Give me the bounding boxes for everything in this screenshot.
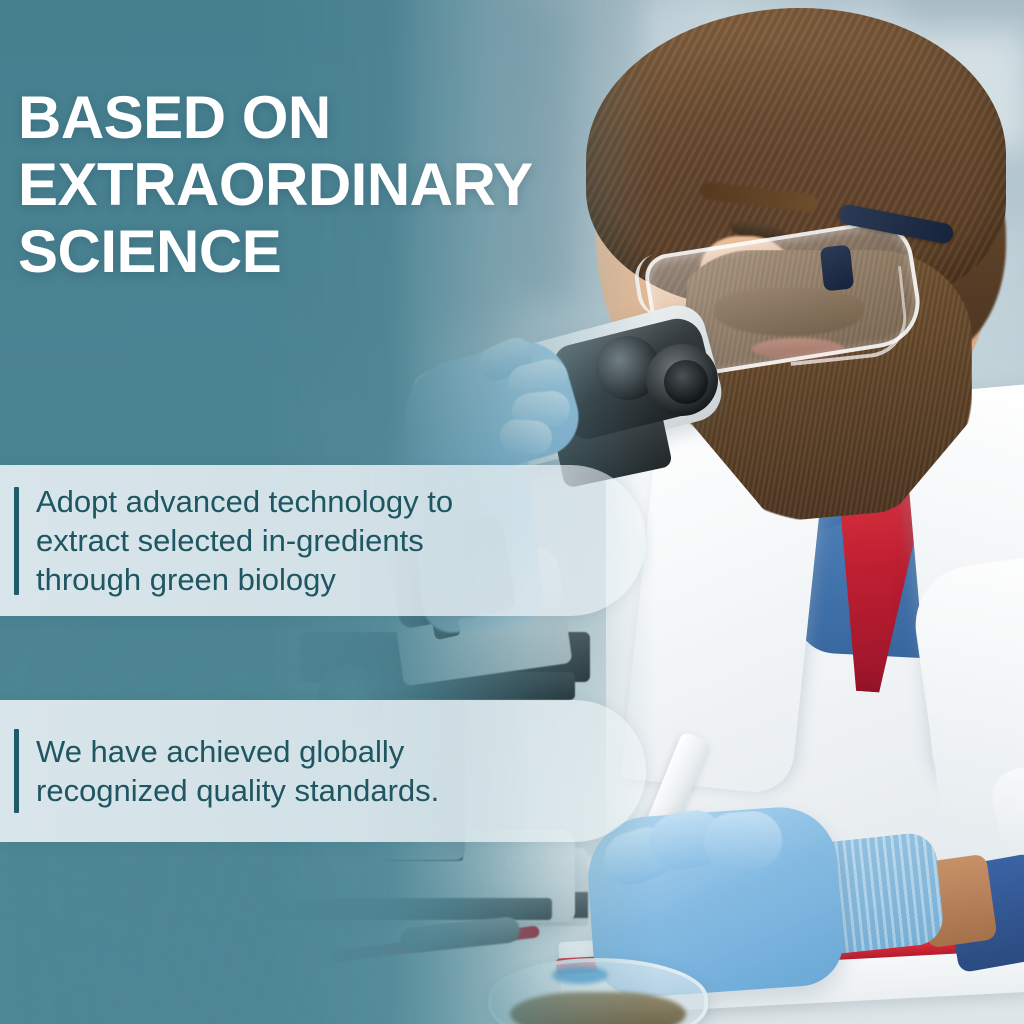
callout-line: We have achieved globally xyxy=(36,732,439,771)
accent-bar-icon xyxy=(14,729,19,813)
page-title: BASED ON EXTRAORDINARY SCIENCE xyxy=(18,84,718,286)
callout-line: recognized quality standards. xyxy=(36,771,439,810)
callout-line: extract selected in-gredients xyxy=(36,521,453,560)
callout-line: Adopt advanced technology to xyxy=(36,482,453,521)
callout-quality-text: We have achieved globally recognized qua… xyxy=(36,732,439,810)
callout-technology-text: Adopt advanced technology to extract sel… xyxy=(36,482,453,599)
promo-banner: BASED ON EXTRAORDINARY SCIENCE Adopt adv… xyxy=(0,0,1024,1024)
callout-technology: Adopt advanced technology to extract sel… xyxy=(0,465,646,616)
headline-line-3: SCIENCE xyxy=(18,218,718,285)
callout-line: through green biology xyxy=(36,560,453,599)
accent-bar-icon xyxy=(14,487,19,595)
headline-line-2: EXTRAORDINARY xyxy=(18,151,718,218)
callout-quality: We have achieved globally recognized qua… xyxy=(0,700,646,842)
headline-line-1: BASED ON xyxy=(18,84,718,151)
